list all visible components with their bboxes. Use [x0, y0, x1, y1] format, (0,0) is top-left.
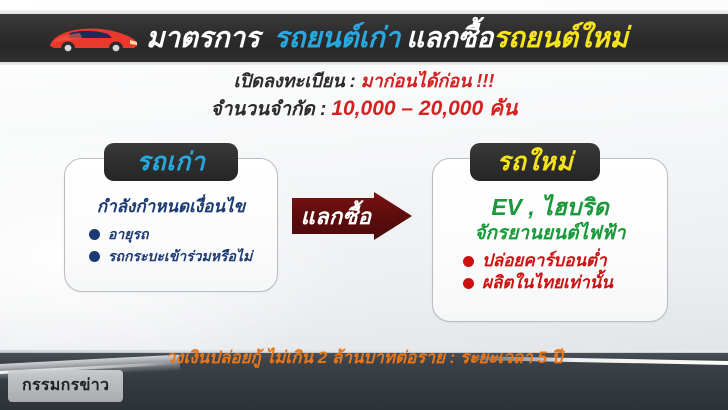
new-car-card: EV , ไฮบริด จักรยานยนต์ไฟฟ้า ปล่อยคาร์บอ…	[432, 158, 668, 322]
header-title-part-1: มาตรการ	[146, 24, 260, 52]
new-car-bullet-2: ผลิตในไทยเท่านั้น	[482, 272, 613, 294]
registration-label: เปิดลงทะเบียน :	[234, 71, 356, 91]
old-car-card-body: กำลังกำหนดเงื่อนไข อายุรถ รถกระบะเข้าร่ว…	[65, 195, 277, 267]
registration-line: เปิดลงทะเบียน : มาก่อนได้ก่อน !!!	[0, 68, 728, 95]
new-car-card-body: EV , ไฮบริด จักรยานยนต์ไฟฟ้า ปล่อยคาร์บอ…	[433, 193, 667, 294]
quota-label: จำนวนจำกัด :	[211, 99, 327, 120]
red-sports-car-icon	[42, 22, 142, 56]
quota-value: 10,000 – 20,000 คัน	[331, 97, 517, 120]
exchange-arrow: แลกซื้อ	[292, 192, 412, 240]
header-title: มาตรการ รถยนต์เก่า แลกซื้อ รถยนต์ใหม่	[146, 14, 628, 62]
list-item: อายุรถ	[89, 223, 148, 245]
list-item: ผลิตในไทยเท่านั้น	[463, 272, 613, 294]
list-item: ปล่อยคาร์บอนต่ำ	[463, 250, 607, 272]
new-car-subheading: จักรยานยนต์ไฟฟ้า	[433, 221, 667, 246]
header-title-part-3: แลกซื้อ	[406, 24, 493, 52]
old-car-badge: รถเก่า	[104, 143, 238, 181]
exchange-arrow-label: แลกซื้อ	[292, 192, 380, 240]
old-car-bullet-1: อายุรถ	[108, 223, 148, 245]
channel-watermark: กรรมกรข่าว	[8, 370, 123, 402]
old-car-bullet-2: รถกระบะเข้าร่วมหรือไม่	[108, 245, 252, 267]
new-car-bullet-1: ปล่อยคาร์บอนต่ำ	[482, 250, 607, 272]
infographic-canvas: มาตรการ รถยนต์เก่า แลกซื้อ รถยนต์ใหม่ เป…	[0, 0, 728, 410]
new-car-heading: EV , ไฮบริด	[433, 193, 667, 221]
old-car-bullet-list: อายุรถ รถกระบะเข้าร่วมหรือไม่	[65, 223, 277, 267]
bullet-dot-icon	[463, 278, 474, 289]
bullet-dot-icon	[89, 229, 100, 240]
header-bar: มาตรการ รถยนต์เก่า แลกซื้อ รถยนต์ใหม่	[0, 14, 728, 62]
bullet-dot-icon	[463, 256, 474, 267]
loan-terms-note: วงเงินปล่อยกู้ ไม่เกิน 2 ล้านบาทต่อราย :…	[0, 344, 728, 371]
header-title-part-2: รถยนต์เก่า	[260, 24, 406, 52]
new-car-bullet-list: ปล่อยคาร์บอนต่ำ ผลิตในไทยเท่านั้น	[433, 250, 667, 294]
old-car-heading: กำลังกำหนดเงื่อนไข	[65, 195, 277, 219]
quota-line: จำนวนจำกัด : 10,000 – 20,000 คัน	[0, 95, 728, 123]
list-item: รถกระบะเข้าร่วมหรือไม่	[89, 245, 252, 267]
registration-value: มาก่อนได้ก่อน !!!	[361, 71, 495, 91]
subtitle-block: เปิดลงทะเบียน : มาก่อนได้ก่อน !!! จำนวนจ…	[0, 68, 728, 123]
new-car-badge: รถใหม่	[470, 143, 600, 181]
header-title-part-4: รถยนต์ใหม่	[493, 24, 628, 52]
bullet-dot-icon	[89, 251, 100, 262]
